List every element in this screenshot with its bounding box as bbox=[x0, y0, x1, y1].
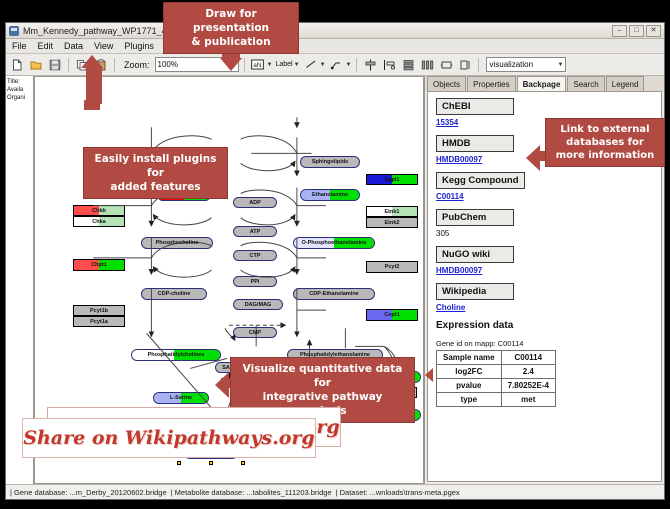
zoom-value: 100% bbox=[158, 60, 230, 69]
menu-bar: File Edit Data View Plugins Help bbox=[6, 39, 664, 54]
db-link-wikipedia[interactable]: Choline bbox=[436, 303, 653, 312]
interaction-tool[interactable]: ▼ bbox=[329, 57, 352, 73]
metabolite-node-label: CDP-Ethanolamine bbox=[309, 291, 359, 297]
exp-key-log2fc: log2FC bbox=[437, 365, 502, 379]
label-tool-text: Label bbox=[275, 61, 292, 68]
callout-draw-line2: & publication bbox=[172, 35, 290, 49]
expression-data-title: Expression data bbox=[436, 320, 653, 331]
expression-gene-id: Gene id on mapp: C00114 bbox=[436, 339, 653, 348]
callout-databases-arrow bbox=[526, 145, 540, 171]
status-metabolite-database: | Metabolite database: ...tabolites_1112… bbox=[171, 488, 332, 497]
db-header-kegg: Kegg Compound bbox=[436, 172, 525, 189]
minimize-button[interactable]: – bbox=[612, 25, 627, 37]
menu-item-data[interactable]: Data bbox=[62, 41, 85, 51]
share-banner-overlay: Share on Wikipathways.org bbox=[22, 418, 316, 458]
metabolite-node-label: O-Phosphoethanolamine bbox=[301, 240, 366, 246]
callout-visualize-arrow bbox=[215, 372, 229, 398]
metabolite-node-label: Sphingolipids bbox=[312, 159, 348, 165]
close-button[interactable]: ✕ bbox=[646, 25, 661, 37]
toolbar-separator-5 bbox=[478, 58, 479, 72]
gene-node-label: Chpt1 bbox=[91, 262, 107, 268]
callout-plugins-stem2 bbox=[86, 66, 102, 104]
db-entry-nugo: NuGO wiki HMDB00097 bbox=[436, 246, 653, 275]
new-file-icon[interactable] bbox=[9, 57, 25, 73]
toolbar-separator-3 bbox=[244, 58, 245, 72]
align-center-icon[interactable] bbox=[362, 57, 378, 73]
metabolite-node-label: Phosphatidylcholines bbox=[148, 352, 205, 358]
gene-node-label: Chka bbox=[92, 219, 105, 225]
callout-visualize-line1: Visualize quantitative data for bbox=[239, 362, 406, 390]
metabolite-node-label: L-Serine bbox=[170, 395, 192, 401]
visualization-combo[interactable]: visualization ▼ bbox=[486, 57, 566, 72]
db-header-pubchem: PubChem bbox=[436, 209, 514, 226]
tab-legend[interactable]: Legend bbox=[606, 76, 645, 91]
tab-search[interactable]: Search bbox=[567, 76, 604, 91]
gene-node-label: Cept1 bbox=[384, 312, 399, 318]
status-dataset: | Dataset: ...wnloads\trans-meta.pgex bbox=[336, 488, 460, 497]
db-header-nugo: NuGO wiki bbox=[436, 246, 514, 263]
gene-node-label: Pcyt1b bbox=[90, 308, 108, 314]
chevron-down-icon[interactable]: ▼ bbox=[267, 62, 273, 68]
exp-key-pvalue: pvalue bbox=[437, 379, 502, 393]
interaction-icon[interactable] bbox=[329, 57, 345, 73]
tab-objects[interactable]: Objects bbox=[427, 76, 466, 91]
metabolite-node-label: Phosphocholine bbox=[156, 240, 199, 246]
application-icon bbox=[9, 26, 19, 36]
align-left-icon[interactable] bbox=[381, 57, 397, 73]
save-icon[interactable] bbox=[47, 57, 63, 73]
gene-node-label: Chkb bbox=[92, 208, 106, 214]
exp-val-pvalue: 7.80252E-4 bbox=[501, 379, 555, 393]
datanode-icon[interactable]: aN bbox=[250, 57, 266, 73]
callout-draw-arrow bbox=[220, 58, 242, 71]
chevron-down-icon: ▼ bbox=[558, 62, 564, 68]
expression-table: Sample name C00114 log2FC 2.4 pvalue 7.8… bbox=[436, 350, 556, 407]
exp-val-log2fc: 2.4 bbox=[501, 365, 555, 379]
same-height-icon[interactable] bbox=[457, 57, 473, 73]
callout-plugins-line1: Easily install plugins for bbox=[92, 152, 219, 180]
toolbar-separator bbox=[68, 58, 69, 72]
distribute-icon[interactable] bbox=[419, 57, 435, 73]
maximize-button[interactable]: □ bbox=[629, 25, 644, 37]
metabolite-node-label: ADP bbox=[249, 200, 261, 206]
callout-databases: Link to external databases for more info… bbox=[545, 118, 665, 167]
window-controls: – □ ✕ bbox=[612, 25, 661, 37]
metabolite-node-label: PPi bbox=[251, 279, 260, 285]
menu-item-view[interactable]: View bbox=[92, 41, 115, 51]
callout-plugins-arrow bbox=[81, 55, 103, 68]
callout-draw-line1: Draw for presentation bbox=[172, 7, 290, 35]
db-entry-wikipedia: Wikipedia Choline bbox=[436, 283, 653, 312]
resize-handle[interactable] bbox=[177, 461, 181, 465]
callout-databases-line2: databases for bbox=[554, 136, 656, 149]
svg-text:aN: aN bbox=[253, 62, 262, 69]
table-row: pvalue 7.80252E-4 bbox=[437, 379, 556, 393]
info-line-organism: Organi bbox=[7, 94, 32, 102]
gene-node-label: Etnk1 bbox=[385, 209, 400, 215]
label-tool[interactable]: Label ▼ bbox=[275, 61, 299, 68]
stack-icon[interactable] bbox=[400, 57, 416, 73]
resize-handle[interactable] bbox=[241, 461, 245, 465]
db-entry-kegg: Kegg Compound C00114 bbox=[436, 172, 653, 201]
metabolite-node-label: CMP bbox=[249, 330, 261, 336]
db-header-wikipedia: Wikipedia bbox=[436, 283, 514, 300]
table-row: Sample name C00114 bbox=[437, 351, 556, 365]
info-line-availab: Availa bbox=[7, 86, 32, 94]
callout-databases-line3: more information bbox=[554, 149, 656, 162]
chevron-down-icon[interactable]: ▼ bbox=[346, 62, 352, 68]
gene-node-label: Sgpl1 bbox=[385, 177, 400, 183]
metabolite-node-label: CDP-choline bbox=[158, 291, 191, 297]
menu-item-plugins[interactable]: Plugins bbox=[122, 41, 156, 51]
status-gene-database: | Gene database: ...m_Derby_20120602.bri… bbox=[10, 488, 167, 497]
toolbar-separator-4 bbox=[356, 58, 357, 72]
datanode-tool[interactable]: aN ▼ bbox=[250, 57, 273, 73]
gene-node-label: Etnk2 bbox=[385, 220, 400, 226]
metabolite-node-label: CTP bbox=[250, 253, 261, 259]
line-icon[interactable] bbox=[303, 57, 319, 73]
menu-item-file[interactable]: File bbox=[10, 41, 29, 51]
title-bar: Mm_Kennedy_pathway_WP1771_45176.gpml – □… bbox=[6, 23, 664, 39]
exp-key-sample-name: Sample name bbox=[437, 351, 502, 365]
callout-expression-arrow bbox=[425, 368, 433, 382]
chevron-down-icon[interactable]: ▼ bbox=[320, 62, 326, 68]
callout-databases-line1: Link to external bbox=[554, 123, 656, 136]
db-link-nugo[interactable]: HMDB00097 bbox=[436, 266, 653, 275]
resize-handle[interactable] bbox=[209, 461, 213, 465]
tab-properties[interactable]: Properties bbox=[467, 76, 515, 91]
zoom-label: Zoom: bbox=[124, 60, 150, 70]
callout-draw: Draw for presentation & publication bbox=[163, 2, 299, 54]
metabolite-node-label: Ethanolamine bbox=[312, 192, 348, 198]
screenshot-root: Mm_Kennedy_pathway_WP1771_45176.gpml – □… bbox=[0, 0, 670, 509]
exp-val-type: met bbox=[501, 393, 555, 407]
exp-key-type: type bbox=[437, 393, 502, 407]
db-entry-pubchem: PubChem 305 bbox=[436, 209, 653, 238]
same-width-icon[interactable] bbox=[438, 57, 454, 73]
metabolite-node-label: ATP bbox=[250, 229, 261, 235]
db-value-pubchem: 305 bbox=[436, 229, 653, 238]
menu-item-edit[interactable]: Edit bbox=[36, 41, 56, 51]
gene-node-label: Pcyt1a bbox=[90, 319, 108, 325]
db-link-kegg[interactable]: C00114 bbox=[436, 192, 653, 201]
callout-plugins: Easily install plugins for added feature… bbox=[83, 147, 228, 199]
chevron-down-icon[interactable]: ▼ bbox=[294, 62, 300, 68]
info-line-title: Title: bbox=[7, 78, 32, 86]
share-banner-overlay-text: Share on Wikipathways.org bbox=[23, 427, 314, 449]
open-folder-icon[interactable] bbox=[28, 57, 44, 73]
toolbar-separator-2 bbox=[114, 58, 115, 72]
side-panel-tabs: Objects Properties Backpage Search Legen… bbox=[425, 76, 664, 91]
db-header-hmdb: HMDB bbox=[436, 135, 514, 152]
line-tool[interactable]: ▼ bbox=[303, 57, 326, 73]
metabolite-node-label: DAG/MAG bbox=[245, 302, 272, 308]
status-bar: | Gene database: ...m_Derby_20120602.bri… bbox=[6, 484, 664, 499]
table-row: log2FC 2.4 bbox=[437, 365, 556, 379]
toolbar: Zoom: 100% ▼ aN ▼ Label ▼ ▼ bbox=[6, 54, 664, 76]
gene-node-label: Pcyt2 bbox=[385, 264, 400, 270]
tab-backpage[interactable]: Backpage bbox=[517, 76, 567, 91]
db-header-chebi: ChEBI bbox=[436, 98, 514, 115]
visualization-value: visualization bbox=[489, 60, 557, 69]
callout-plugins-line2: added features bbox=[92, 180, 219, 194]
table-row: type met bbox=[437, 393, 556, 407]
exp-val-sample-name: C00114 bbox=[501, 351, 555, 365]
